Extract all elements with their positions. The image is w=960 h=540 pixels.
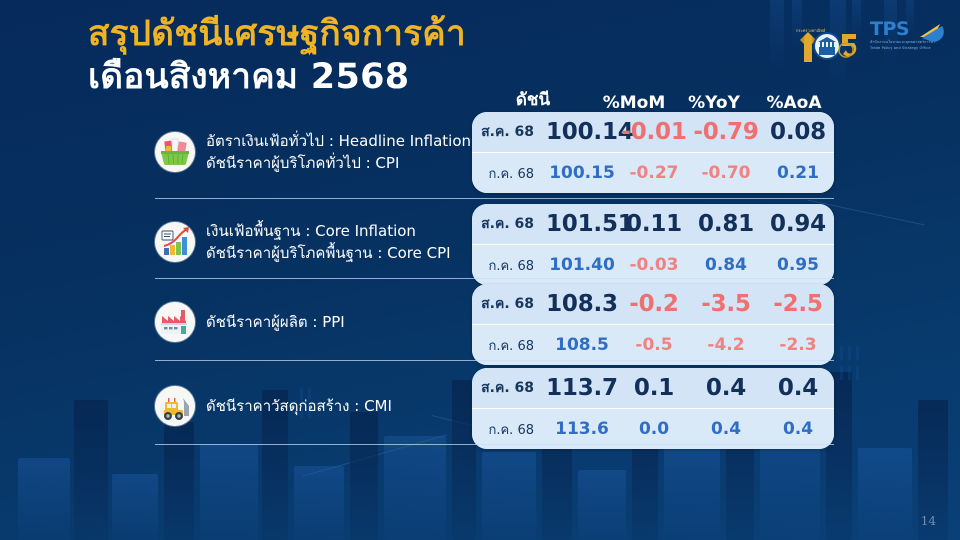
cell-index: 108.3 [546, 291, 618, 317]
cell-index: 100.15 [546, 163, 618, 183]
cell-aoa: -2.5 [762, 291, 834, 317]
cell-month: ก.ค. 68 [472, 255, 546, 276]
cell-mom: 0.0 [618, 419, 690, 439]
table-row: อัตราเงินเฟ้อทั่วไป : Headline Inflation… [155, 112, 834, 192]
cell-aoa: 0.21 [762, 163, 834, 183]
cell-yoy: 0.84 [690, 255, 762, 275]
cell-month: ส.ค. 68 [472, 121, 546, 143]
cell-yoy: -4.2 [690, 335, 762, 355]
cell-yoy: -3.5 [690, 291, 762, 317]
row-label-line-1: อัตราเงินเฟ้อทั่วไป : Headline Inflation [206, 130, 471, 153]
svg-text:กระทรวงพาณิชย์: กระทรวงพาณิชย์ [796, 28, 825, 33]
cell-index: 108.5 [546, 335, 618, 355]
data-row-previous: ก.ค. 68 100.15 -0.27 -0.70 0.21 [472, 152, 834, 193]
data-row-current: ส.ค. 68 108.3 -0.2 -3.5 -2.5 [472, 284, 834, 324]
row-label-core-cpi: เงินเฟ้อพื้นฐาน : Core Inflation ดัชนีรา… [155, 206, 451, 278]
row-divider [155, 198, 834, 199]
cell-month: ส.ค. 68 [472, 213, 546, 235]
row-label-line-2: ดัชนีราคาผู้บริโภคทั่วไป : CPI [206, 152, 471, 175]
cell-aoa: 0.08 [762, 119, 834, 145]
cell-mom: -0.2 [618, 291, 690, 317]
table-column-headers: ดัชนี %MoM %YoY %AoA [472, 86, 834, 113]
factory-icon [155, 302, 195, 342]
title-line-1: สรุปดัชนีเศรษฐกิจการค้า [88, 14, 466, 55]
cell-month: ก.ค. 68 [472, 419, 546, 440]
row-label-line-1: เงินเฟ้อพื้นฐาน : Core Inflation [206, 220, 451, 243]
cell-mom: -0.01 [618, 119, 690, 145]
slide-root: สรุปดัชนีเศรษฐกิจการค้า เดือนสิงหาคม 256… [0, 0, 960, 540]
cell-index: 113.6 [546, 419, 618, 439]
cell-month: ก.ค. 68 [472, 163, 546, 184]
cell-aoa: 0.4 [762, 419, 834, 439]
data-row-previous: ก.ค. 68 108.5 -0.5 -4.2 -2.3 [472, 324, 834, 365]
bar-chart-arrow-icon [155, 222, 195, 262]
cell-yoy: 0.81 [690, 211, 762, 237]
row-divider [155, 360, 834, 361]
cell-mom: 0.1 [618, 375, 690, 401]
cell-mom: -0.27 [618, 163, 690, 183]
title-line-2: เดือนสิงหาคม 2568 [88, 57, 466, 98]
column-header-index: ดัชนี [472, 86, 594, 113]
row-label-ppi: ดัชนีราคาผู้ผลิต : PPI [155, 286, 345, 358]
row-label-line-1: ดัชนีราคาวัสดุก่อสร้าง : CMI [206, 395, 392, 418]
cell-yoy: -0.70 [690, 163, 762, 183]
cell-aoa: 0.94 [762, 211, 834, 237]
cell-index: 101.40 [546, 255, 618, 275]
row-label-line-2: ดัชนีราคาผู้บริโภคพื้นฐาน : Core CPI [206, 242, 451, 265]
data-row-previous: ก.ค. 68 113.6 0.0 0.4 0.4 [472, 408, 834, 449]
table-row: เงินเฟ้อพื้นฐาน : Core Inflation ดัชนีรา… [155, 198, 834, 278]
cell-index: 113.7 [546, 375, 618, 401]
table-row: ดัชนีราคาผู้ผลิต : PPI ส.ค. 68 108.3 -0.… [155, 278, 834, 358]
row-divider [155, 278, 834, 279]
data-card-core-cpi: ส.ค. 68 101.51 0.11 0.81 0.94 ก.ค. 68 10… [472, 204, 834, 285]
cell-yoy: 0.4 [690, 375, 762, 401]
cell-mom: -0.5 [618, 335, 690, 355]
logo-group: กระทรวงพาณิชย์ TPS [794, 18, 942, 66]
bulldozer-icon [155, 386, 195, 426]
cell-month: ก.ค. 68 [472, 335, 546, 356]
data-row-current: ส.ค. 68 100.14 -0.01 -0.79 0.08 [472, 112, 834, 152]
cell-index: 101.51 [546, 211, 618, 237]
cell-yoy: -0.79 [690, 119, 762, 145]
shopping-basket-icon [155, 132, 195, 172]
105-anniversary-logo: กระทรวงพาณิชย์ [794, 18, 860, 66]
cell-aoa: -2.3 [762, 335, 834, 355]
tpso-logo: TPS สำนักงานนโยบายและยุทธศาสตร์การค้า Tr… [870, 20, 942, 64]
tpso-swoosh-icon [918, 21, 944, 47]
row-label-cpi: อัตราเงินเฟ้อทั่วไป : Headline Inflation… [155, 112, 471, 192]
cell-aoa: 0.95 [762, 255, 834, 275]
cell-month: ส.ค. 68 [472, 377, 546, 399]
cell-index: 100.14 [546, 119, 618, 145]
data-card-ppi: ส.ค. 68 108.3 -0.2 -3.5 -2.5 ก.ค. 68 108… [472, 284, 834, 365]
cell-mom: -0.03 [618, 255, 690, 275]
row-divider [155, 444, 834, 445]
data-row-current: ส.ค. 68 113.7 0.1 0.4 0.4 [472, 368, 834, 408]
page-title: สรุปดัชนีเศรษฐกิจการค้า เดือนสิงหาคม 256… [88, 14, 466, 99]
column-header-yoy: %YoY [674, 93, 754, 113]
column-header-mom: %MoM [594, 93, 674, 113]
table-bottom-divider [155, 444, 834, 445]
cell-yoy: 0.4 [690, 419, 762, 439]
data-row-current: ส.ค. 68 101.51 0.11 0.81 0.94 [472, 204, 834, 244]
cell-aoa: 0.4 [762, 375, 834, 401]
table-row: ดัชนีราคาวัสดุก่อสร้าง : CMI ส.ค. 68 113… [155, 360, 834, 442]
cell-month: ส.ค. 68 [472, 293, 546, 315]
data-card-cpi: ส.ค. 68 100.14 -0.01 -0.79 0.08 ก.ค. 68 … [472, 112, 834, 193]
row-label-line-1: ดัชนีราคาผู้ผลิต : PPI [206, 311, 345, 334]
row-label-cmi: ดัชนีราคาวัสดุก่อสร้าง : CMI [155, 370, 392, 442]
column-header-aoa: %AoA [754, 93, 834, 113]
data-card-cmi: ส.ค. 68 113.7 0.1 0.4 0.4 ก.ค. 68 113.6 … [472, 368, 834, 449]
page-number: 14 [921, 514, 936, 528]
cell-mom: 0.11 [618, 211, 690, 237]
